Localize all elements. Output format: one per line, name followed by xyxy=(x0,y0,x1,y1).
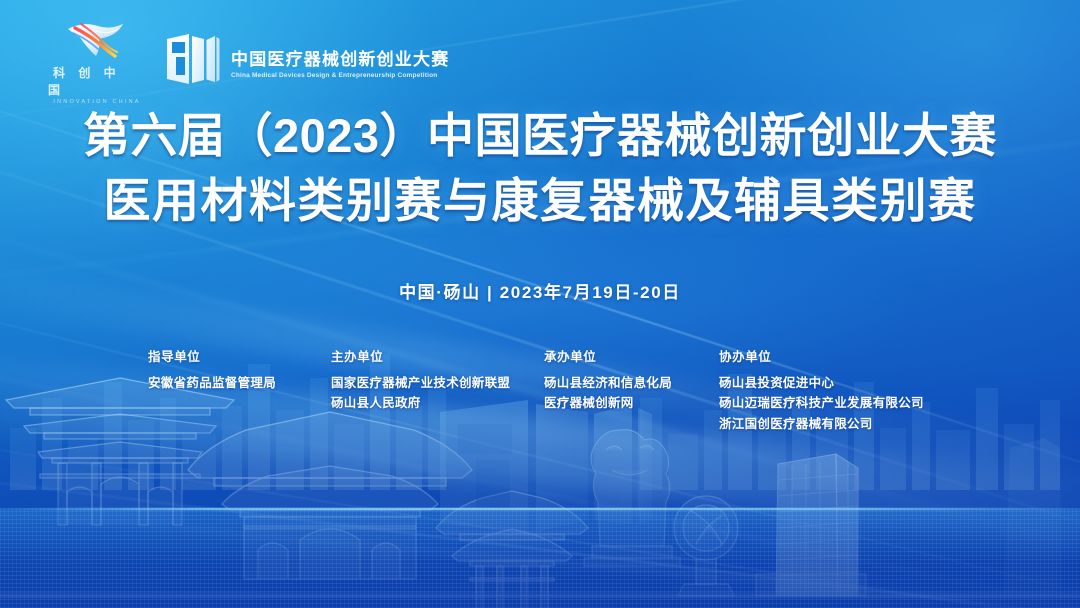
title-line-2: 医用材料类别赛与康复器械及辅具类别赛 xyxy=(0,169,1080,234)
light-streak xyxy=(0,268,1080,608)
title-line-1: 第六届（2023）中国医疗器械创新创业大赛 xyxy=(0,104,1080,169)
water-reflection xyxy=(0,508,1080,608)
poster-canvas: 科 创 中 国 INNOVATION CHINA xyxy=(0,0,1080,608)
competition-logo-cn: 中国医疗器械创新创业大赛 xyxy=(231,45,449,70)
light-streak xyxy=(0,455,1080,608)
main-title: 第六届（2023）中国医疗器械创新创业大赛 医用材料类别赛与康复器械及辅具类别赛 xyxy=(0,104,1080,234)
organizer-column-host: 主办单位 国家医疗器械产业技术创新联盟 砀山县人民政府 xyxy=(331,346,544,434)
open-door-window-icon xyxy=(166,33,220,90)
competition-logo: 中国医疗器械创新创业大赛 China Medical Devices Desig… xyxy=(166,33,449,90)
competition-logo-text: 中国医疗器械创新创业大赛 China Medical Devices Desig… xyxy=(231,45,449,79)
organizer-item: 砀山县人民政府 xyxy=(331,393,544,413)
organizers-block: 指导单位 安徽省药品监督管理局 主办单位 国家医疗器械产业技术创新联盟 砀山县人… xyxy=(148,346,924,434)
light-streak xyxy=(0,492,1080,608)
organizer-column-guidance: 指导单位 安徽省药品监督管理局 xyxy=(148,346,331,434)
organizer-item: 砀山迈瑞医疗科技产业发展有限公司 xyxy=(719,393,924,413)
organizer-heading: 指导单位 xyxy=(148,346,331,365)
organizer-column-organizer: 承办单位 砀山县经济和信息化局 医疗器械创新网 xyxy=(544,346,719,434)
light-streak xyxy=(0,415,1080,608)
event-location-date: 中国·砀山 | 2023年7月19日-20日 xyxy=(0,278,1080,303)
header-logos: 科 创 中 国 INNOVATION CHINA xyxy=(48,18,449,105)
organizer-heading: 承办单位 xyxy=(544,346,719,365)
dot-grid-texture xyxy=(0,508,1080,608)
kechuang-logo-cn: 科 创 中 国 xyxy=(48,64,144,98)
phoenix-bird-icon xyxy=(65,18,127,63)
organizer-heading: 协办单位 xyxy=(719,346,924,365)
organizer-item: 砀山县投资促进中心 xyxy=(719,373,924,393)
organizer-column-coorganizer: 协办单位 砀山县投资促进中心 砀山迈瑞医疗科技产业发展有限公司 浙江国创医疗器械… xyxy=(719,346,924,434)
horizon-line xyxy=(0,508,1080,510)
competition-logo-en: China Medical Devices Design & Entrepren… xyxy=(231,72,449,79)
organizer-heading: 主办单位 xyxy=(331,346,544,365)
organizer-item: 医疗器械创新网 xyxy=(544,393,719,413)
organizer-item: 浙江国创医疗器械有限公司 xyxy=(719,414,924,434)
city-skyline-silhouette xyxy=(0,278,1080,608)
organizer-item: 砀山县经济和信息化局 xyxy=(544,373,719,393)
kechuang-china-logo: 科 创 中 国 INNOVATION CHINA xyxy=(48,18,144,105)
organizer-item: 国家医疗器械产业技术创新联盟 xyxy=(331,373,544,393)
organizer-item: 安徽省药品监督管理局 xyxy=(148,373,331,393)
